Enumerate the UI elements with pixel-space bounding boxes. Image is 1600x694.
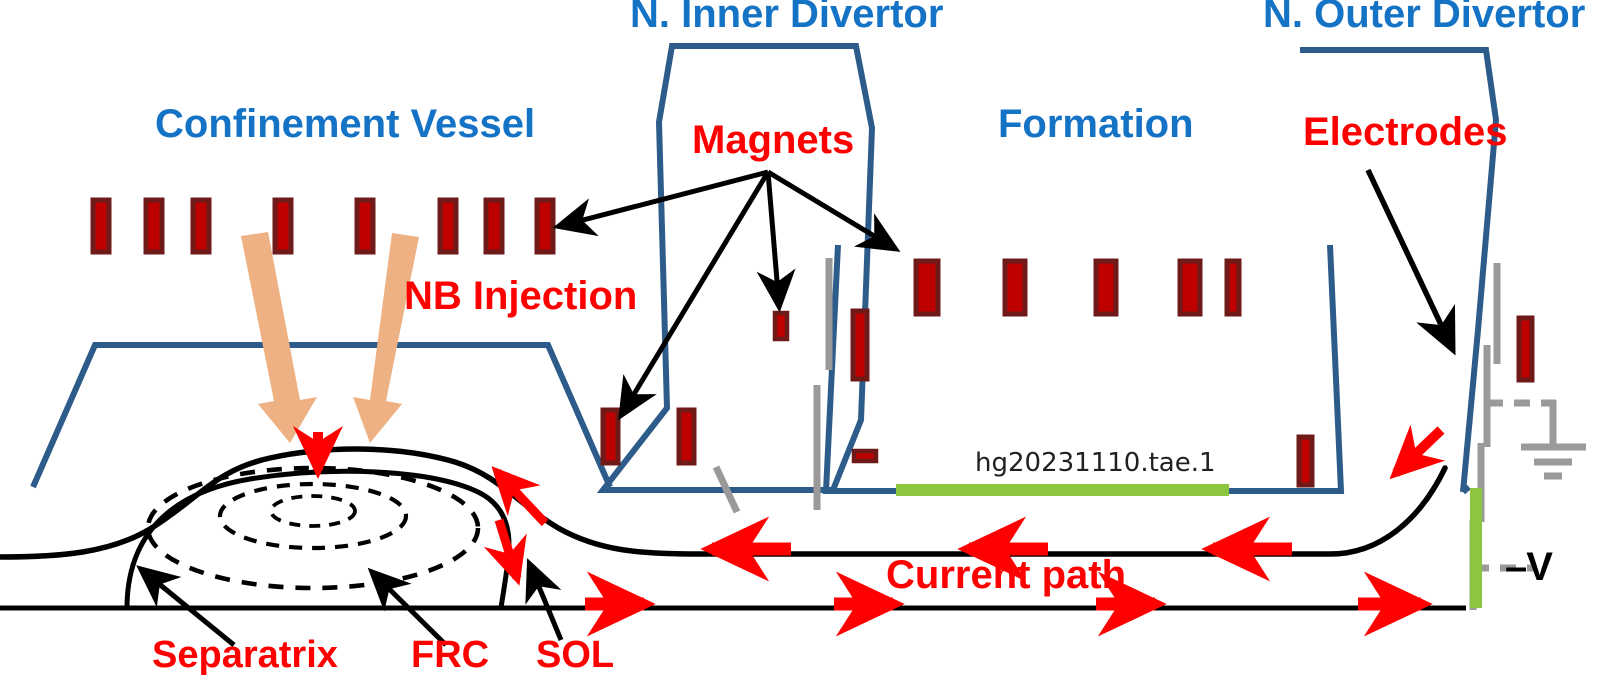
label-nb-injection: NB Injection [404, 276, 637, 316]
label-electrodes: Electrodes [1303, 112, 1508, 152]
shot-id-label: hg20231110.tae.1 [975, 448, 1216, 478]
label-confinement-vessel: Confinement Vessel [155, 104, 535, 144]
current-entry-arrow [1396, 430, 1441, 473]
flux-surface-core [271, 496, 355, 526]
label-formation: Formation [998, 104, 1194, 144]
label-n-inner-divertor: N. Inner Divertor [630, 0, 943, 34]
label-sol: SOL [536, 636, 614, 674]
separatrix-contour [127, 471, 509, 608]
sol-callout-arrow [530, 565, 561, 640]
ground-connection [1487, 400, 1586, 476]
label-separatrix: Separatrix [152, 636, 338, 674]
outer-divertor-magnet-bar [1519, 318, 1532, 380]
electrodes-callout-arrow [1368, 170, 1452, 348]
label-current-path: Current path [886, 555, 1126, 595]
frc-device-diagram: N. Inner Divertor N. Outer Divertor Conf… [0, 0, 1600, 694]
nb-injection-beam [241, 232, 419, 443]
confinement-magnet-bar [93, 200, 553, 252]
label-magnets: Magnets [692, 120, 854, 160]
plasma-outer-boundary [0, 449, 1445, 557]
label-frc: FRC [411, 636, 489, 674]
flux-surface-mid [220, 484, 406, 548]
label-negative-voltage: –V [1505, 545, 1552, 590]
label-n-outer-divertor: N. Outer Divertor [1263, 0, 1585, 34]
